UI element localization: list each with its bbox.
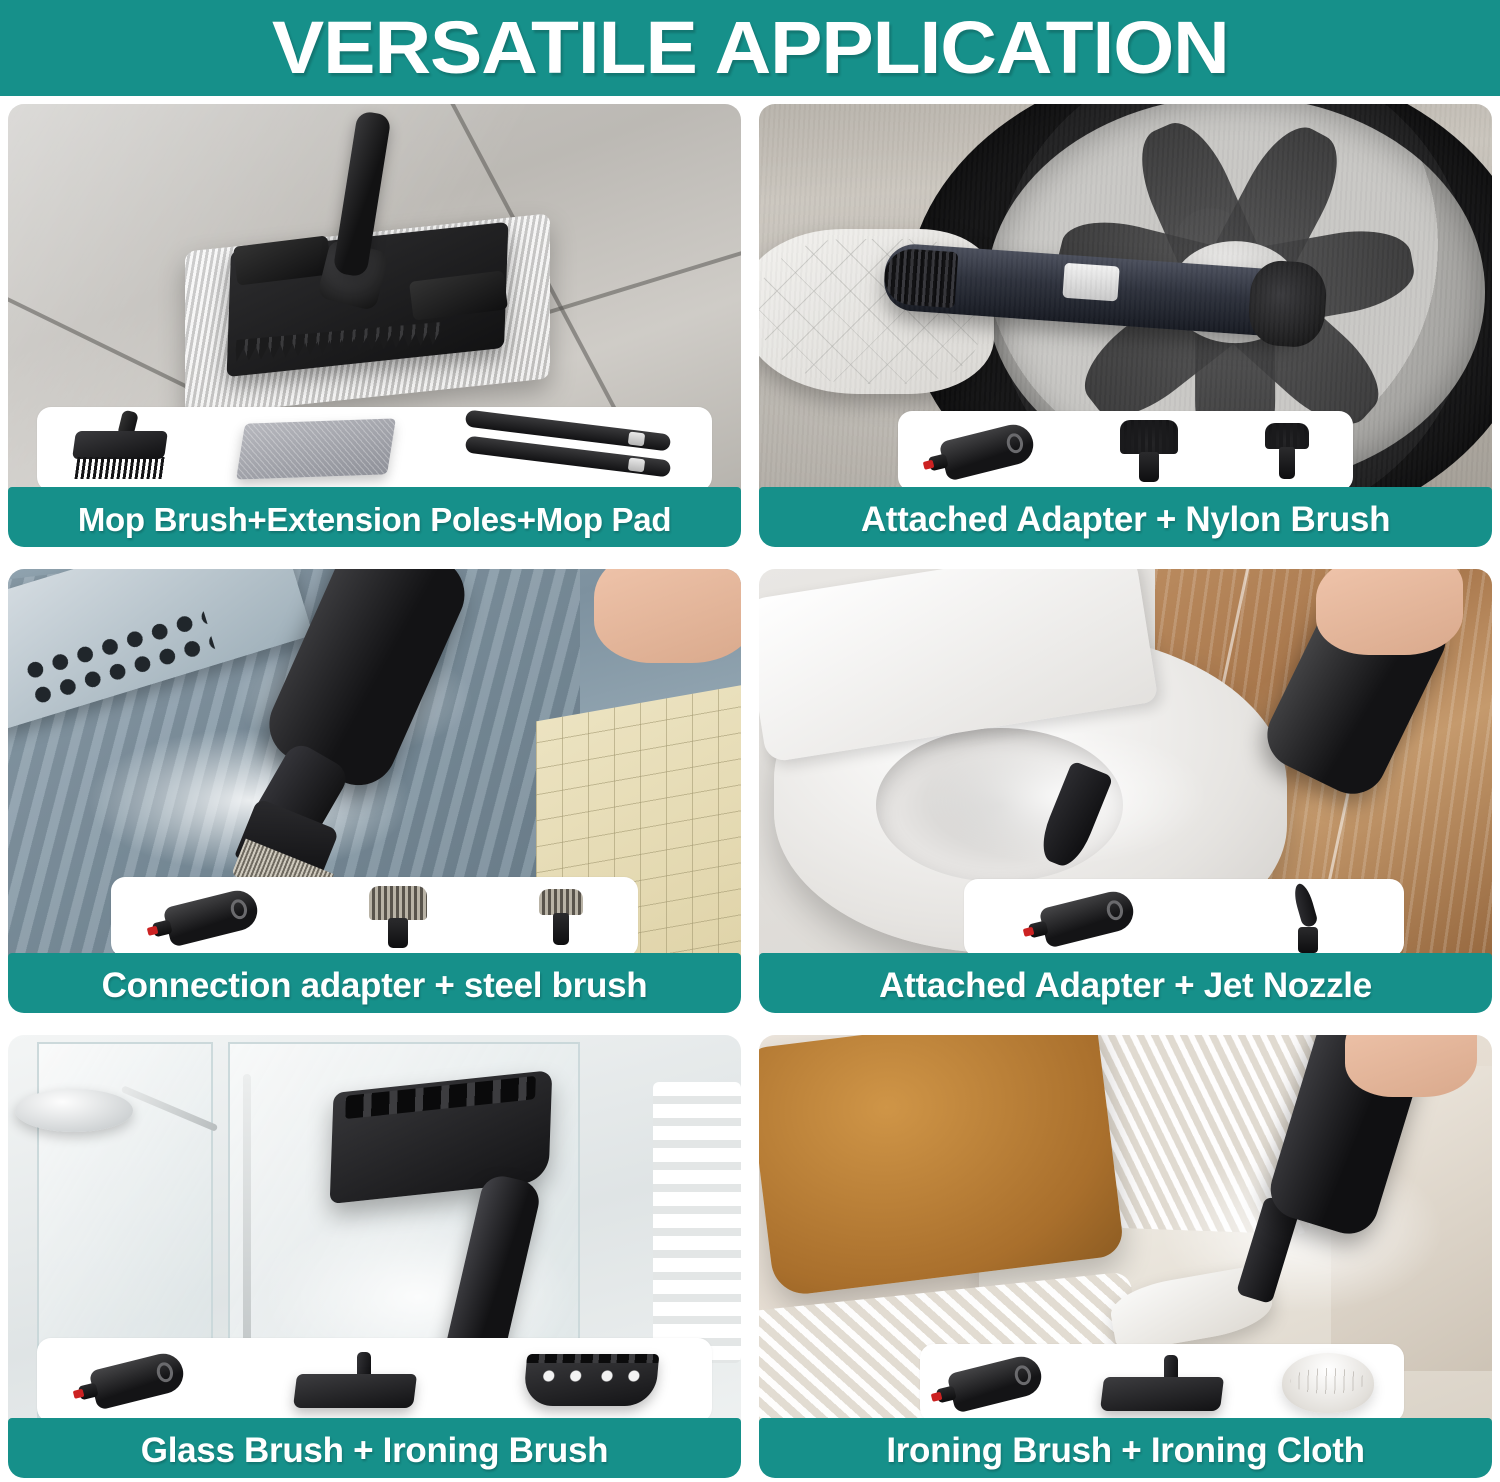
user-hand <box>594 569 741 663</box>
velvet-pillow <box>759 1035 1125 1298</box>
panel-mop[interactable]: Mop Brush+Extension Poles+Mop Pad <box>8 104 741 547</box>
cleaning-glove <box>759 229 994 393</box>
mop-pad-icon <box>236 419 396 480</box>
caption-bar-grill: Connection adapter + steel brush <box>8 953 741 1013</box>
accessory-strip-sofa <box>920 1344 1404 1422</box>
steel-brush-large-icon <box>369 886 427 948</box>
ironing-cloth-icon <box>1282 1353 1374 1413</box>
attached-adapter-icon <box>938 421 1037 482</box>
caption-text: Attached Adapter + Nylon Brush <box>861 500 1390 540</box>
wand-nylon-brush-tip <box>1246 258 1328 348</box>
caption-bar-wheel: Attached Adapter + Nylon Brush <box>759 487 1492 547</box>
user-hand <box>1345 1035 1477 1098</box>
towel-radiator <box>653 1082 741 1364</box>
panel-toilet[interactable]: Attached Adapter + Jet Nozzle <box>759 569 1492 1012</box>
panel-glass[interactable]: Glass Brush + Ironing Brush <box>8 1035 741 1478</box>
mop-brush-icon <box>74 413 166 485</box>
connection-adapter-icon <box>163 886 262 947</box>
panel-sofa-photo <box>759 1035 1492 1426</box>
accessory-strip-toilet <box>964 879 1404 957</box>
caption-bar-toilet: Attached Adapter + Jet Nozzle <box>759 953 1492 1013</box>
honda-logo-text: H <box>1224 272 1247 311</box>
caption-bar-mop: Mop Brush+Extension Poles+Mop Pad <box>8 487 741 547</box>
panel-glass-photo <box>8 1035 741 1426</box>
accessory-strip-wheel <box>898 411 1352 491</box>
extension-poles-icon <box>465 418 675 480</box>
caption-text: Glass Brush + Ironing Brush <box>141 1431 608 1471</box>
header-banner: VERSATILE APPLICATION <box>0 0 1500 96</box>
infographic-page: VERSATILE APPLICATION <box>0 0 1500 1482</box>
panel-mop-photo <box>8 104 741 495</box>
attached-adapter-icon <box>1038 887 1137 948</box>
nylon-brush-small-icon <box>1265 423 1309 479</box>
shower-slide-rail <box>243 1074 251 1356</box>
wheel-hub-logo: H <box>1171 241 1301 343</box>
panel-grill[interactable]: Connection adapter + steel brush <box>8 569 741 1012</box>
steam-wand <box>882 242 1311 338</box>
panel-wheel-photo: H <box>759 104 1492 495</box>
caption-text: Attached Adapter + Jet Nozzle <box>879 966 1372 1006</box>
panel-grill-photo <box>8 569 741 960</box>
panel-wheel[interactable]: H <box>759 104 1492 547</box>
wand-grip <box>882 247 958 308</box>
page-title: VERSATILE APPLICATION <box>272 11 1229 85</box>
accessory-strip-grill <box>111 877 639 957</box>
caption-text: Mop Brush+Extension Poles+Mop Pad <box>78 501 671 539</box>
nylon-brush-large-icon <box>1120 420 1178 482</box>
accessory-strip-mop <box>37 407 711 491</box>
wand-trigger-button <box>1062 262 1120 300</box>
caption-bar-sofa: Ironing Brush + Ironing Cloth <box>759 1418 1492 1478</box>
glass-brush-plate-icon <box>522 1354 659 1406</box>
caption-text: Ironing Brush + Ironing Cloth <box>886 1431 1364 1471</box>
ironing-brush-icon <box>1102 1355 1222 1411</box>
accessory-strip-glass <box>37 1338 711 1422</box>
panel-grid: Mop Brush+Extension Poles+Mop Pad <box>8 104 1492 1478</box>
ironing-brush-icon <box>295 1352 415 1408</box>
caption-text: Connection adapter + steel brush <box>102 966 648 1006</box>
steel-brush-small-icon <box>539 889 583 945</box>
jet-nozzle-icon <box>1289 883 1327 953</box>
attached-adapter-icon <box>89 1349 188 1410</box>
attached-adapter-icon <box>947 1352 1046 1413</box>
panel-sofa[interactable]: Ironing Brush + Ironing Cloth <box>759 1035 1492 1478</box>
caption-bar-glass: Glass Brush + Ironing Brush <box>8 1418 741 1478</box>
panel-toilet-photo <box>759 569 1492 960</box>
user-hand <box>1316 569 1463 655</box>
